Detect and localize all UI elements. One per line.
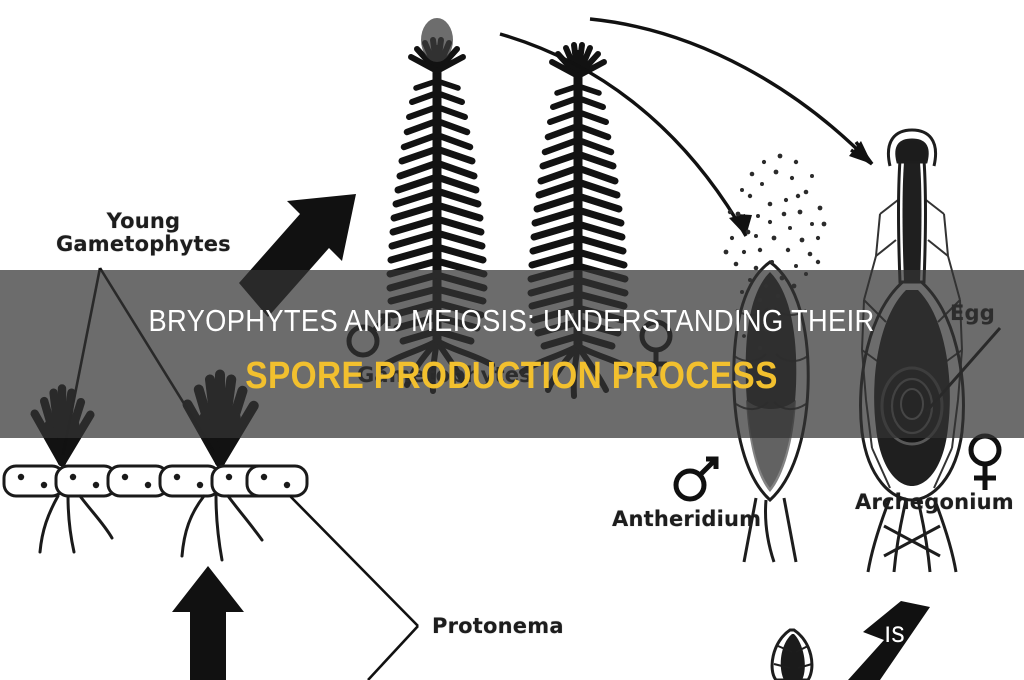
title-line-primary: Bryophytes and Meiosis: Understanding Th…	[149, 302, 875, 340]
label-archegonium: Archegonium	[855, 491, 1014, 514]
title-banner-overlay: Bryophytes and Meiosis: Understanding Th…	[0, 270, 1024, 438]
label-young-gametophytes: Young Gametophytes	[56, 210, 231, 255]
title-line-secondary: Spore Production Process	[246, 353, 778, 399]
label-protonema: Protonema	[432, 615, 564, 638]
partial-overlay-text: ıs	[884, 616, 905, 650]
label-antheridium: Antheridium	[612, 508, 761, 531]
screenshot-root: Young Gametophytes Gametophytes Protonem…	[0, 0, 1024, 680]
